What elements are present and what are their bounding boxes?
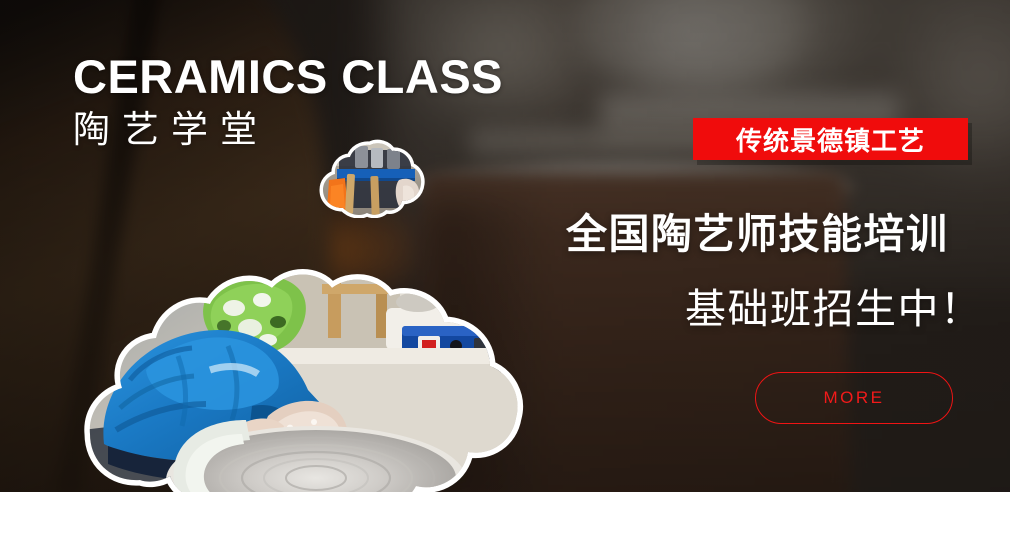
pottery-tools-photo [315, 136, 427, 218]
headline-primary: 全国陶艺师技能培训 [566, 200, 949, 260]
more-button-label: MORE [824, 388, 885, 408]
page-title: CERAMICS CLASS 陶艺学堂 [73, 52, 503, 151]
title-english: CERAMICS CLASS [73, 52, 503, 103]
bottom-strip [0, 492, 1010, 538]
headline-secondary: 基础班招生中！ [685, 275, 983, 335]
badge-label: 传统景德镇工艺 [736, 121, 925, 158]
status-badge: 传统景德镇工艺 [693, 118, 968, 160]
ceramics-class-banner: CERAMICS CLASS 陶艺学堂 [0, 0, 1010, 538]
title-chinese: 陶艺学堂 [73, 109, 503, 152]
child-at-pottery-wheel-photo [82, 230, 534, 520]
more-button[interactable]: MORE [755, 372, 953, 424]
